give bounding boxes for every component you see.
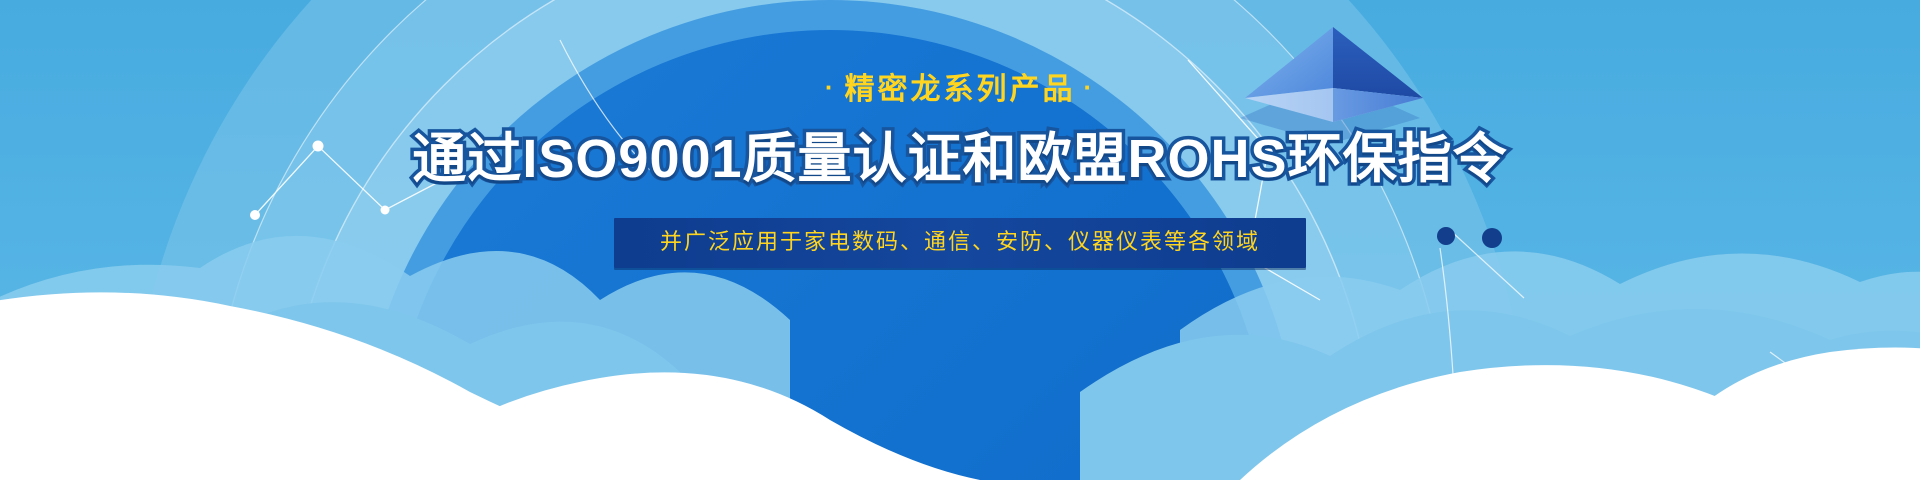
banner-background-art (0, 0, 1920, 480)
promo-banner: ·精密龙系列产品· 通过ISO9001质量认证和欧盟ROHS环保指令 并广泛应用… (0, 0, 1920, 480)
